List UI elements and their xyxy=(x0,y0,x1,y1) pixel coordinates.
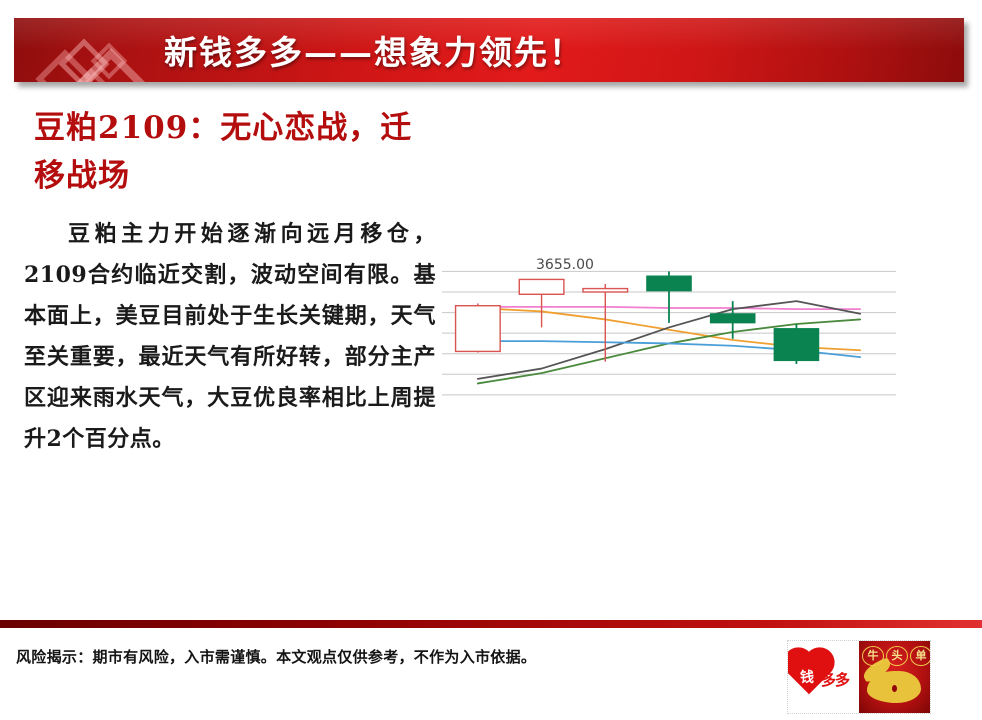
niutoudan-logo: 牛头单 xyxy=(859,641,930,713)
qianduoduo-logo: 钱 多多 xyxy=(788,641,859,713)
chart-price-label: 3655.00 xyxy=(536,257,594,273)
banner-title: 新钱多多——想象力领先！ xyxy=(164,26,584,74)
footer-divider xyxy=(0,620,982,628)
bull-badge-row: 牛头单 xyxy=(862,646,930,666)
bull-badge: 单 xyxy=(910,646,930,666)
page-title: 豆粕2109：无心恋战，迁移战场 xyxy=(34,104,434,200)
risk-disclaimer: 风险揭示：期市有风险，入市需谨慎。本文观点仅供参考，不作为入市依据。 xyxy=(16,646,536,667)
bull-badge: 牛 xyxy=(862,646,884,666)
logo-duoduo-text: 多多 xyxy=(821,669,849,690)
footer-logos: 钱 多多 牛头单 xyxy=(787,640,931,714)
bull-eye-icon xyxy=(892,685,897,692)
candlestick-chart: 3655.00 xyxy=(440,248,898,438)
header-banner: 新钱多多——想象力领先！ xyxy=(14,18,964,82)
bull-badge: 头 xyxy=(886,646,908,666)
logo-qian-text: 钱 xyxy=(800,667,814,687)
article-paragraph: 豆粕主力开始逐渐向远月移仓，2109合约临近交割，波动空间有限。基本面上，美豆目… xyxy=(24,214,436,460)
chart-canvas xyxy=(440,248,898,438)
